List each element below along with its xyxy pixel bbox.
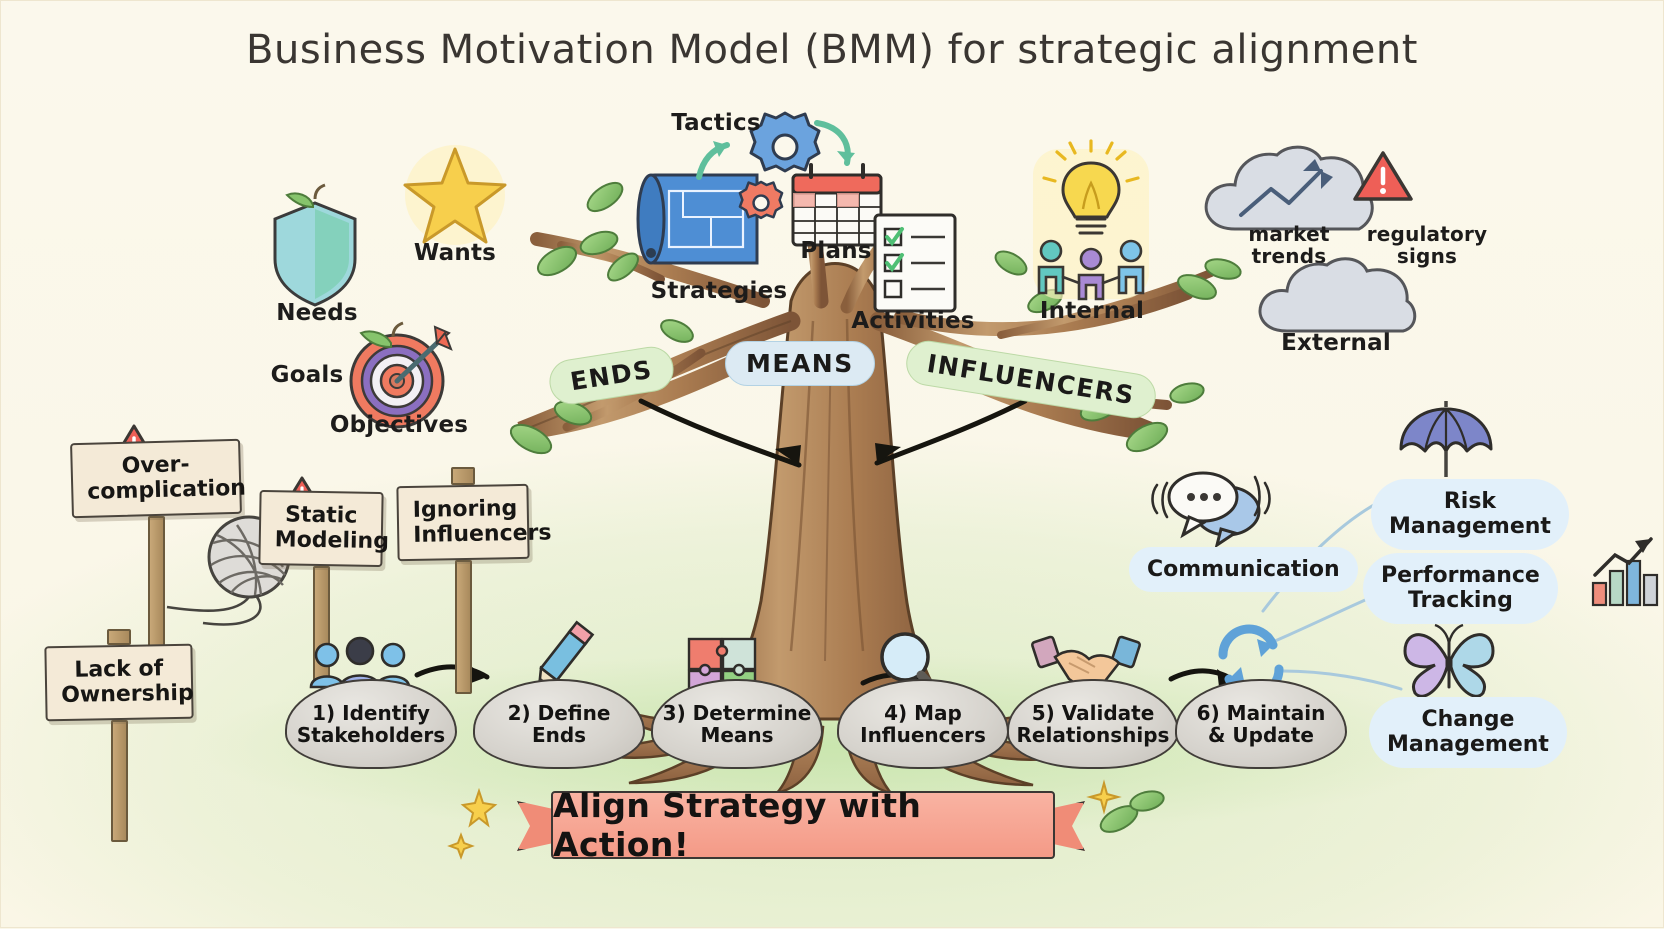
shield-icon bbox=[269, 197, 361, 309]
banner-text: Align Strategy with Action! bbox=[551, 791, 1055, 859]
pitfall-sign-ignoring-influencers: Ignoring Influencers bbox=[397, 467, 529, 694]
ends-item-wants-label: Wants bbox=[397, 241, 513, 267]
pitfall-label: Over- complication bbox=[70, 439, 242, 518]
influencers-item-regulatory-signs-label: regulatory signs bbox=[1357, 223, 1497, 268]
step-label: 5) Validate Relationships bbox=[1011, 702, 1176, 747]
benefit-change-management: Change Management bbox=[1369, 697, 1567, 768]
lightbulb-people-icon bbox=[1023, 141, 1159, 307]
pitfall-label: Lack of Ownership bbox=[44, 644, 193, 721]
benefit-performance-tracking: Performance Tracking bbox=[1363, 553, 1558, 624]
checklist-icon bbox=[867, 209, 963, 321]
sparkle-star-icon bbox=[449, 789, 503, 859]
means-item-strategies-label: Strategies bbox=[649, 279, 789, 305]
step-label: 3) Determine Means bbox=[657, 702, 818, 747]
umbrella-icon bbox=[1397, 405, 1495, 481]
means-item-activities-label: Activities bbox=[849, 309, 977, 335]
step-label: 6) Maintain & Update bbox=[1191, 702, 1332, 747]
step-label: 2) Define Ends bbox=[502, 702, 617, 747]
influencers-item-external-label: External bbox=[1269, 331, 1403, 357]
step-label: 4) Map Influencers bbox=[854, 702, 992, 747]
speech-bubbles-icon bbox=[1149, 467, 1277, 543]
infographic-canvas: Business Motivation Model (BMM) for stra… bbox=[0, 0, 1664, 928]
butterfly-icon bbox=[1397, 619, 1501, 701]
ends-item-objectives-label: Objectives bbox=[319, 413, 479, 439]
pitfall-label: Ignoring Influencers bbox=[396, 484, 529, 561]
pitfall-sign-lack-of-ownership: Lack of Ownership bbox=[45, 629, 193, 842]
benefit-communication: Communication bbox=[1129, 547, 1358, 592]
step-label: 1) Identify Stakeholders bbox=[291, 702, 451, 747]
star-icon bbox=[401, 143, 509, 247]
ends-item-goals-label: Goals bbox=[259, 363, 355, 389]
benefit-risk-management: Risk Management bbox=[1371, 479, 1569, 550]
banner: Align Strategy with Action! bbox=[521, 791, 1081, 859]
bar-chart-icon bbox=[1589, 541, 1663, 611]
ends-item-needs-label: Needs bbox=[259, 301, 375, 327]
branch-label-means: MEANS bbox=[725, 341, 875, 386]
warning-triangle-icon bbox=[1353, 149, 1413, 205]
sparkle-star-icon bbox=[1087, 781, 1121, 817]
influencers-item-internal-label: Internal bbox=[1025, 299, 1159, 325]
pitfall-label: Static Modeling bbox=[258, 490, 383, 567]
